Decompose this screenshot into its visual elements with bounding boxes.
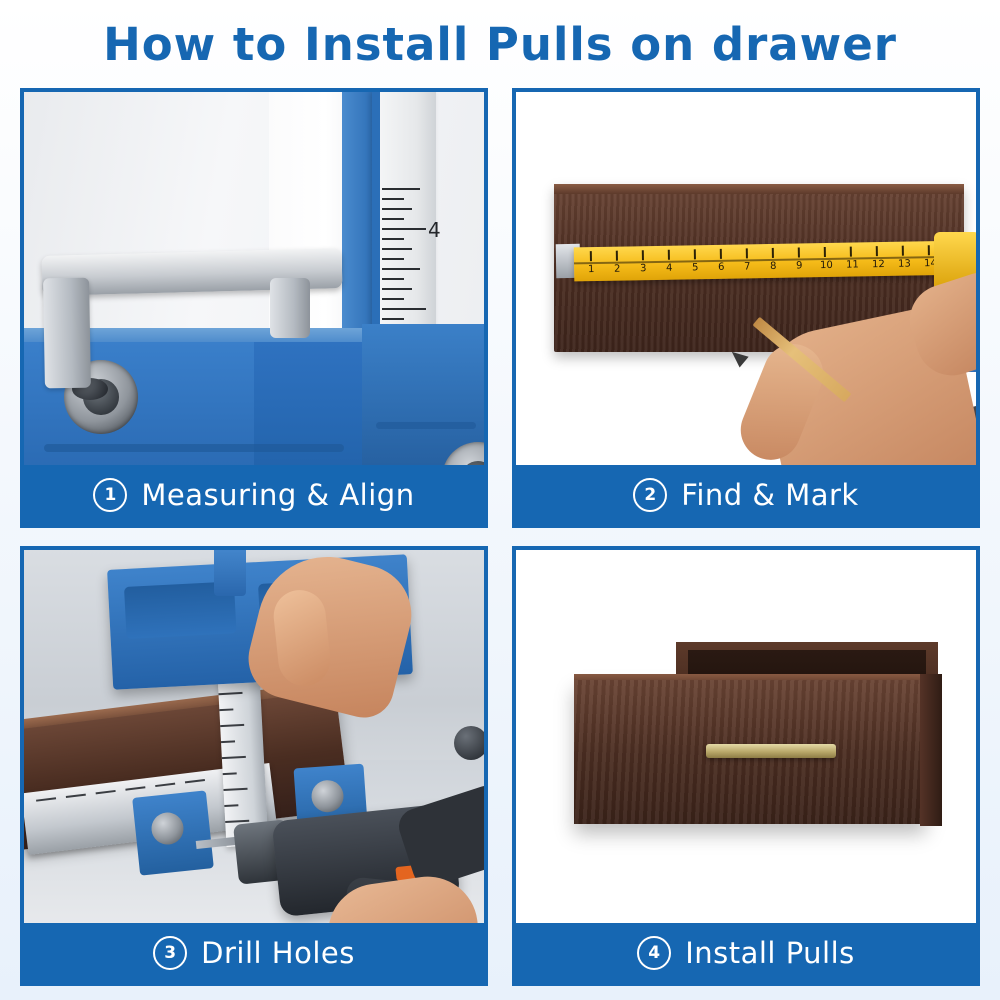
step-number-badge: 2 — [633, 478, 667, 512]
tape-number: 13 — [898, 259, 911, 270]
tape-number: 11 — [846, 259, 859, 270]
drill-bushing — [150, 811, 185, 846]
tape-tick — [720, 249, 722, 259]
installed-pull-handle — [706, 744, 836, 758]
step-label: Install Pulls — [685, 936, 855, 970]
ruler-tick — [382, 288, 412, 290]
tape-tick — [746, 248, 748, 258]
step-label: Find & Mark — [681, 478, 858, 512]
drill-bushing — [310, 779, 344, 813]
tape-tick — [642, 250, 644, 260]
tape-tick — [590, 251, 592, 261]
tape-number: 4 — [666, 263, 673, 274]
scale-tick — [222, 756, 246, 759]
ruler-tick — [382, 298, 404, 300]
jig-bracket-left — [132, 790, 214, 875]
step-number-badge: 1 — [93, 478, 127, 512]
scale-tick — [225, 820, 249, 823]
tape-number: 9 — [796, 260, 803, 271]
step-caption-2: 2 Find & Mark — [515, 465, 977, 525]
table-knob — [454, 726, 484, 760]
step-card-3: 3 Drill Holes — [20, 546, 488, 986]
step-card-4: 4 Install Pulls — [512, 546, 980, 986]
jig-groove-right — [376, 422, 476, 429]
tape-number: 8 — [770, 261, 777, 272]
ruler-tick — [382, 258, 404, 260]
step-caption-1: 1 Measuring & Align — [23, 465, 485, 525]
tape-number: 5 — [692, 262, 699, 273]
ruler-tick — [382, 248, 412, 250]
tape-tick — [694, 249, 696, 259]
ruler-tick — [185, 779, 205, 783]
scale-tick — [223, 788, 247, 791]
scale-tick — [219, 708, 233, 710]
jig-vertical-scale — [218, 673, 269, 847]
tape-tick — [824, 247, 826, 257]
ruler-number: 4 — [428, 218, 441, 242]
scale-tick — [218, 692, 242, 695]
tape-tick — [798, 247, 800, 257]
tape-number: 2 — [614, 264, 621, 275]
page-title: How to Install Pulls on drawer — [0, 18, 1000, 71]
ruler-tick — [155, 783, 175, 787]
pull-handle-post — [43, 278, 91, 389]
ruler-tick — [382, 268, 420, 270]
ruler-tick — [36, 797, 56, 801]
tape-tick — [928, 245, 930, 255]
ruler-tick — [66, 794, 86, 798]
step-label: Measuring & Align — [141, 478, 414, 512]
tape-number: 12 — [872, 259, 885, 270]
ruler-tick — [382, 238, 404, 240]
scale-tick — [221, 740, 235, 742]
tape-number: 10 — [820, 260, 833, 271]
ruler-tick — [382, 228, 426, 230]
ruler-tick — [382, 208, 412, 210]
photo-finished-drawer-with-pull — [516, 550, 976, 932]
tape-tick — [668, 250, 670, 260]
scale-tick — [224, 804, 238, 806]
scale-tick — [220, 724, 244, 727]
tape-number: 3 — [640, 263, 647, 274]
poster-root: How to Install Pulls on drawer — [0, 0, 1000, 1000]
ruler-tick — [96, 790, 116, 794]
ruler-tick — [382, 278, 404, 280]
photo-drilling-holes-with-jig — [24, 550, 484, 932]
tape-number: 1 — [588, 264, 595, 275]
tape-tick — [876, 246, 878, 256]
jig-groove — [44, 444, 344, 452]
step-caption-3: 3 Drill Holes — [23, 923, 485, 983]
tape-number: 6 — [718, 262, 725, 273]
ruler-tick — [382, 218, 404, 220]
step-number-badge: 3 — [153, 936, 187, 970]
step-card-2: 1 2 3 4 5 6 7 8 9 10 11 12 13 14 — [512, 88, 980, 528]
scale-tick — [223, 772, 237, 774]
steps-grid: 4 2 1 1 — [20, 88, 980, 978]
tape-tick — [902, 246, 904, 256]
ruler-tick — [382, 198, 404, 200]
step-label: Drill Holes — [201, 936, 355, 970]
ruler-tick — [382, 318, 404, 320]
ruler-tick — [382, 308, 426, 310]
ruler-tick — [382, 188, 420, 190]
tape-tick — [850, 247, 852, 257]
tape-tick — [772, 248, 774, 258]
tape-measure-blade: 1 2 3 4 5 6 7 8 9 10 11 12 13 14 — [574, 241, 967, 282]
pull-handle-post — [270, 278, 310, 338]
wood-board-top-edge — [554, 184, 964, 194]
drawer-front-side-edge — [920, 674, 942, 826]
step-card-1: 4 2 1 1 — [20, 88, 488, 528]
ruler-tick — [125, 786, 145, 790]
tape-tick — [616, 251, 618, 261]
photo-jig-with-ruler: 4 2 1 — [24, 92, 484, 474]
jig-post — [214, 550, 246, 596]
tape-number: 7 — [744, 261, 751, 272]
step-caption-4: 4 Install Pulls — [515, 923, 977, 983]
step-number-badge: 4 — [637, 936, 671, 970]
photo-tape-measure-on-board: 1 2 3 4 5 6 7 8 9 10 11 12 13 14 — [516, 92, 976, 474]
